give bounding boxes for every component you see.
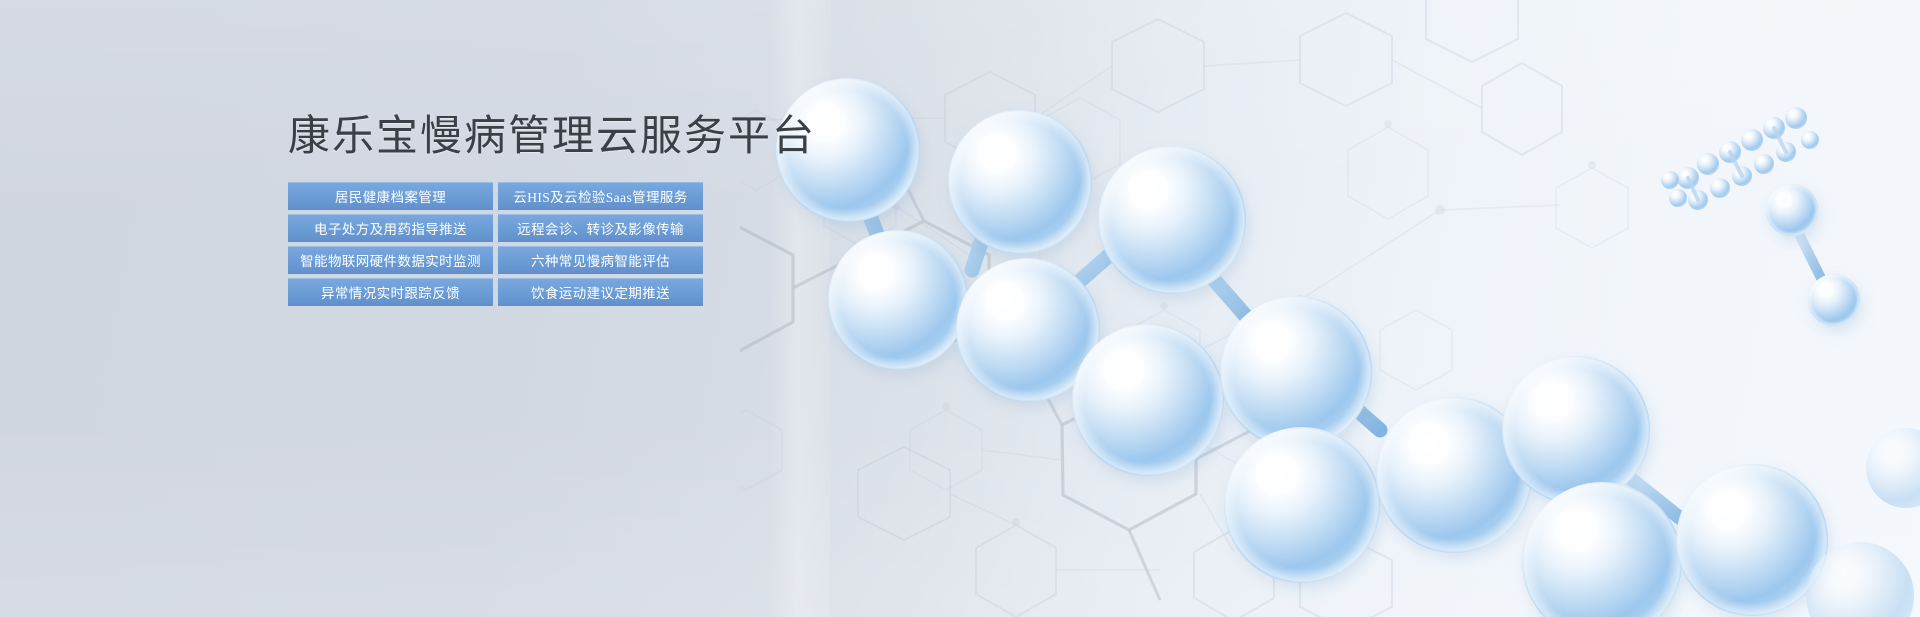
- page-title: 康乐宝慢病管理云服务平台: [288, 112, 888, 160]
- feature-label: 智能物联网硬件数据实时监测: [300, 250, 481, 270]
- feature-cell-eprescription-push[interactable]: 电子处方及用药指导推送: [288, 214, 493, 242]
- feature-grid: 居民健康档案管理 云HIS及云检验Saas管理服务 电子处方及用药指导推送 远程…: [288, 182, 888, 306]
- feature-label: 居民健康档案管理: [335, 186, 446, 206]
- background-seam: [770, 0, 830, 617]
- feature-label: 远程会诊、转诊及影像传输: [517, 218, 684, 238]
- feature-label: 云HIS及云检验Saas管理服务: [513, 186, 687, 206]
- feature-cell-iot-monitoring[interactable]: 智能物联网硬件数据实时监测: [288, 246, 493, 274]
- banner-content: 康乐宝慢病管理云服务平台 居民健康档案管理 云HIS及云检验Saas管理服务 电…: [288, 112, 888, 306]
- feature-cell-cloud-his-saas[interactable]: 云HIS及云检验Saas管理服务: [498, 182, 703, 210]
- hero-banner: 康乐宝慢病管理云服务平台 居民健康档案管理 云HIS及云检验Saas管理服务 电…: [0, 0, 1920, 617]
- feature-label: 六种常见慢病智能评估: [531, 250, 670, 270]
- feature-cell-remote-consultation[interactable]: 远程会诊、转诊及影像传输: [498, 214, 703, 242]
- background-sheen: [0, 0, 1920, 617]
- molecule-illustration: [740, 0, 1920, 617]
- feature-cell-chronic-disease-assessment[interactable]: 六种常见慢病智能评估: [498, 246, 703, 274]
- feature-label: 饮食运动建议定期推送: [531, 282, 670, 302]
- feature-cell-resident-health-record[interactable]: 居民健康档案管理: [288, 182, 493, 210]
- feature-label: 异常情况实时跟踪反馈: [321, 282, 460, 302]
- feature-cell-diet-exercise-advice[interactable]: 饮食运动建议定期推送: [498, 278, 703, 306]
- feature-cell-anomaly-tracking[interactable]: 异常情况实时跟踪反馈: [288, 278, 493, 306]
- feature-label: 电子处方及用药指导推送: [314, 218, 467, 238]
